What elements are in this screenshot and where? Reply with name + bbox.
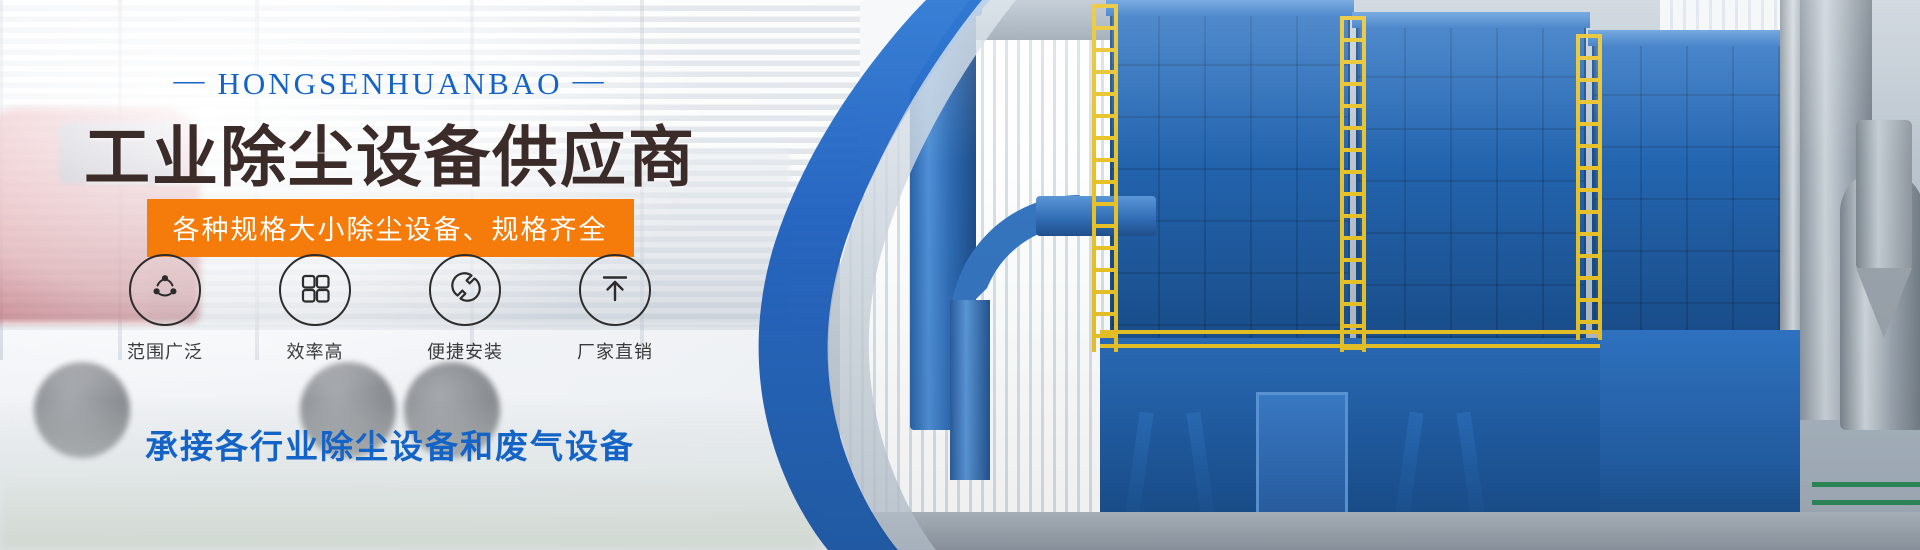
feature-list: 范围广泛 效率高 <box>0 254 780 364</box>
feature-item-installation[interactable]: 便捷安装 <box>411 254 519 364</box>
concrete-ground <box>800 512 1920 550</box>
feature-label: 范围广泛 <box>111 338 219 364</box>
baghouse-top-rail <box>1352 12 1590 28</box>
feature-item-direct-sale[interactable]: 厂家直销 <box>561 254 669 364</box>
network-nodes-icon <box>145 268 185 313</box>
blue-duct-vertical <box>950 300 990 480</box>
yellow-ladder <box>1576 34 1602 340</box>
dust-collector-plant-photo <box>800 0 1920 550</box>
hero-banner: —HONGSENHUANBAO— 工业除尘设备供应商 各种规格大小除尘设备、规格… <box>0 0 1920 550</box>
feature-icon-circle <box>579 254 651 326</box>
subtitle-bar: 各种规格大小除尘设备、规格齐全 <box>0 199 780 257</box>
yellow-ladder <box>1340 16 1366 352</box>
brand-eyebrow: —HONGSENHUANBAO— <box>0 66 780 102</box>
feature-item-efficiency[interactable]: 效率高 <box>261 254 369 364</box>
baghouse-top-rail <box>1106 0 1354 16</box>
yellow-ladder <box>1092 4 1118 352</box>
yellow-catwalk-railing <box>1100 330 1600 350</box>
hero-copy-block: —HONGSENHUANBAO— 工业除尘设备供应商 各种规格大小除尘设备、规格… <box>0 0 860 550</box>
feature-label: 便捷安装 <box>411 338 519 364</box>
eyebrow-dash-left: — <box>163 62 217 98</box>
baghouse-module <box>1356 22 1586 340</box>
upload-arrow-icon <box>596 269 634 312</box>
feature-icon-circle <box>279 254 351 326</box>
eyebrow-dash-right: — <box>563 62 617 98</box>
feature-item-range[interactable]: 范围广泛 <box>111 254 219 364</box>
baghouse-module <box>1592 40 1782 332</box>
cyclone-cone <box>1856 268 1912 338</box>
baghouse-top-rail <box>1588 30 1786 46</box>
baghouse-module <box>1110 10 1350 340</box>
grid-squares-icon <box>296 269 334 312</box>
cyclone-separator <box>1856 120 1912 270</box>
feature-icon-circle <box>429 254 501 326</box>
feature-icon-circle <box>129 254 201 326</box>
wrench-icon <box>445 268 485 313</box>
subtitle-pill: 各种规格大小除尘设备、规格齐全 <box>147 199 634 257</box>
hero-tagline: 承接各行业除尘设备和废气设备 <box>0 420 780 468</box>
feature-label: 效率高 <box>261 338 369 364</box>
eyebrow-text: HONGSENHUANBAO <box>217 66 562 101</box>
page-title: 工业除尘设备供应商 <box>0 104 780 200</box>
feature-label: 厂家直销 <box>561 338 669 364</box>
